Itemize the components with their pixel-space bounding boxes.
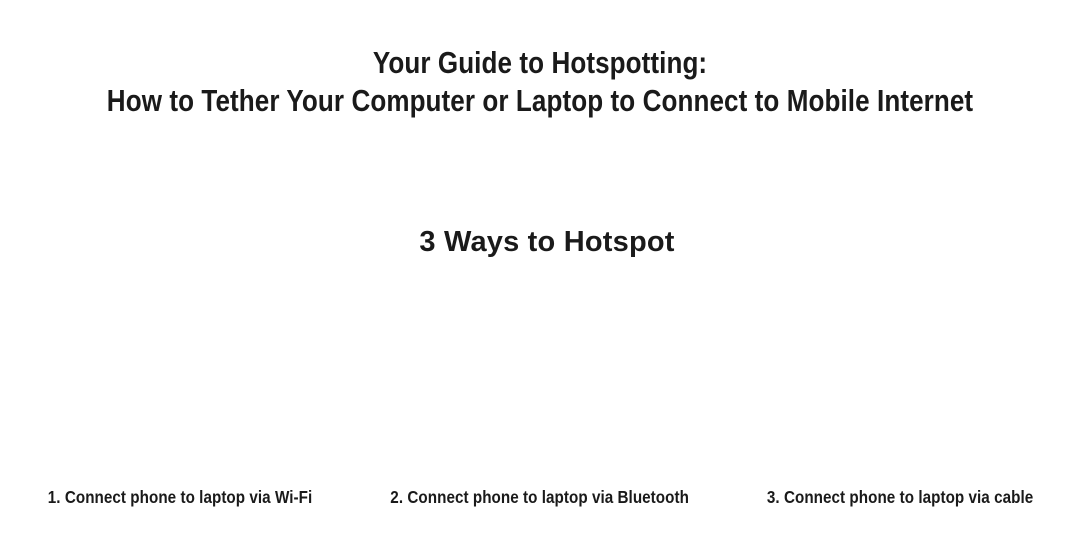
illustration-wifi: [0, 280, 360, 476]
page-title: Your Guide to Hotspotting: How to Tether…: [0, 44, 1080, 120]
illustration-cable: [720, 280, 1080, 476]
page-title-line-1: Your Guide to Hotspotting:: [86, 44, 993, 82]
method-item-2: 2. Connect phone to laptop via Bluetooth: [360, 486, 720, 508]
illustration-bluetooth: [360, 280, 720, 476]
method-caption-3: 3. Connect phone to laptop via cable: [767, 486, 1033, 508]
method-item-3: 3. Connect phone to laptop via cable: [720, 486, 1080, 508]
section-heading-text: 3 Ways to Hotspot: [419, 222, 674, 262]
caption-row: 1. Connect phone to laptop via Wi-Fi 2. …: [0, 486, 1080, 516]
method-caption-2: 2. Connect phone to laptop via Bluetooth: [391, 486, 690, 508]
section-heading: 3 Ways to Hotspot: [0, 222, 1080, 262]
page-title-line-2: How to Tether Your Computer or Laptop to…: [86, 82, 993, 120]
infographic-page: Your Guide to Hotspotting: How to Tether…: [0, 0, 1080, 552]
method-caption-1: 1. Connect phone to laptop via Wi-Fi: [48, 486, 312, 508]
method-item-1: 1. Connect phone to laptop via Wi-Fi: [0, 486, 360, 508]
illustration-row: [0, 280, 1080, 476]
